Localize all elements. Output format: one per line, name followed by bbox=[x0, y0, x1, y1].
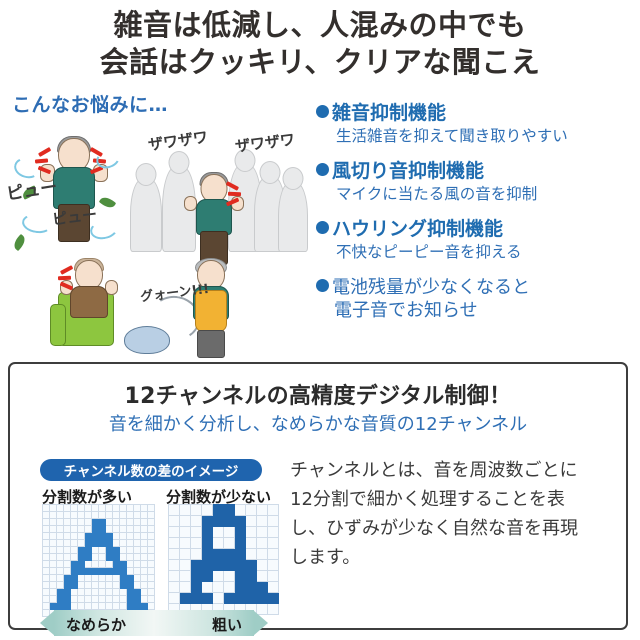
pixel-cell bbox=[50, 505, 57, 512]
pixel-cell bbox=[191, 527, 202, 538]
pixel-cell bbox=[148, 526, 155, 533]
pixel-cell bbox=[120, 519, 127, 526]
pixel-cell bbox=[235, 527, 246, 538]
feature-title: 電池残量が少なくなると bbox=[316, 276, 640, 299]
pixel-cell bbox=[43, 554, 50, 561]
pixel-cell bbox=[85, 512, 92, 519]
pixel-cell bbox=[127, 603, 134, 610]
pixel-cell bbox=[169, 505, 180, 516]
pixel-cell bbox=[127, 547, 134, 554]
pixel-cell bbox=[134, 533, 141, 540]
body-line-2: 12分割で細かく処理することを表 bbox=[290, 485, 620, 514]
pixel-cell bbox=[43, 561, 50, 568]
pixel-grid-row bbox=[43, 582, 155, 589]
pixel-cell bbox=[78, 582, 85, 589]
pixel-cell bbox=[99, 540, 106, 547]
pixel-cell bbox=[78, 589, 85, 596]
pixel-cell bbox=[257, 560, 268, 571]
pixel-cell bbox=[213, 538, 224, 549]
pixel-cell bbox=[106, 519, 113, 526]
feature-title: 風切り音抑制機能 bbox=[316, 160, 640, 183]
pixel-cell bbox=[57, 568, 64, 575]
pixel-cell bbox=[85, 575, 92, 582]
pixel-cell bbox=[92, 589, 99, 596]
feature-subtitle: マイクに当たる風の音を抑制 bbox=[316, 184, 640, 205]
pixel-cell bbox=[257, 516, 268, 527]
pixel-cell bbox=[224, 571, 235, 582]
pixel-cell bbox=[148, 512, 155, 519]
pixel-cell bbox=[141, 596, 148, 603]
pixel-grid-row bbox=[43, 519, 155, 526]
pixel-cell bbox=[99, 512, 106, 519]
feature-title-text: 風切り音抑制機能 bbox=[332, 160, 484, 182]
pixel-cell bbox=[106, 554, 113, 561]
pixel-cell bbox=[180, 549, 191, 560]
pixel-cell bbox=[71, 512, 78, 519]
pixel-cell bbox=[43, 603, 50, 610]
pixel-cell bbox=[257, 505, 268, 516]
pixel-cell bbox=[224, 538, 235, 549]
pixel-cell bbox=[224, 593, 235, 604]
pixel-grid-row bbox=[169, 582, 279, 593]
pixel-cell bbox=[92, 554, 99, 561]
pixel-cell bbox=[134, 526, 141, 533]
pixel-cell bbox=[113, 568, 120, 575]
smoothness-arrow: なめらか 粗い bbox=[40, 610, 268, 636]
pixel-cell bbox=[85, 519, 92, 526]
bullet-icon bbox=[316, 279, 329, 292]
pixel-cell bbox=[213, 593, 224, 604]
pixel-cell bbox=[99, 575, 106, 582]
pixel-cell bbox=[71, 519, 78, 526]
pixel-cell bbox=[57, 589, 64, 596]
pixel-cell bbox=[64, 526, 71, 533]
pixel-cell bbox=[78, 512, 85, 519]
pixel-cell bbox=[57, 561, 64, 568]
pixel-cell bbox=[57, 519, 64, 526]
pixel-cell bbox=[246, 516, 257, 527]
pixel-grid-row bbox=[169, 505, 279, 516]
pixel-cell bbox=[78, 568, 85, 575]
pixel-grid-row bbox=[43, 575, 155, 582]
pixel-cell bbox=[43, 519, 50, 526]
pixel-cell bbox=[78, 575, 85, 582]
pixel-cell bbox=[92, 540, 99, 547]
pixel-cell bbox=[50, 582, 57, 589]
pixel-cell bbox=[78, 505, 85, 512]
pixel-cell bbox=[92, 512, 99, 519]
pixel-cell bbox=[50, 589, 57, 596]
pixel-grid-row bbox=[43, 568, 155, 575]
pixel-cell bbox=[148, 547, 155, 554]
pixel-cell bbox=[127, 596, 134, 603]
pixel-cell bbox=[148, 505, 155, 512]
pixel-cell bbox=[71, 582, 78, 589]
pixel-cell bbox=[113, 533, 120, 540]
pixel-cell bbox=[169, 582, 180, 593]
pixel-cell bbox=[106, 596, 113, 603]
pixel-cell bbox=[92, 596, 99, 603]
pixel-cell bbox=[202, 571, 213, 582]
pixel-cell bbox=[120, 596, 127, 603]
pixel-cell bbox=[99, 526, 106, 533]
pixel-cell bbox=[224, 527, 235, 538]
pixel-grid-row bbox=[169, 516, 279, 527]
pixel-cell bbox=[120, 568, 127, 575]
pixel-cell bbox=[43, 582, 50, 589]
body-line-1: チャンネルとは、音を周波数ごとに bbox=[290, 456, 620, 485]
pixel-cell bbox=[43, 526, 50, 533]
feature-item: 風切り音抑制機能 マイクに当たる風の音を抑制 bbox=[316, 160, 640, 205]
pixel-cell bbox=[191, 538, 202, 549]
pixel-cell bbox=[113, 561, 120, 568]
torso-shape bbox=[53, 167, 95, 209]
pixel-cell bbox=[134, 582, 141, 589]
pixel-grid-row bbox=[43, 547, 155, 554]
pixel-cell bbox=[85, 603, 92, 610]
pixel-cell bbox=[106, 603, 113, 610]
pixel-cell bbox=[64, 596, 71, 603]
pixel-cell bbox=[224, 582, 235, 593]
feature-title-text: 雑音抑制機能 bbox=[332, 102, 446, 124]
pixel-cell bbox=[202, 560, 213, 571]
pixel-cell bbox=[85, 540, 92, 547]
pixel-cell bbox=[113, 540, 120, 547]
pixel-cell bbox=[64, 505, 71, 512]
pixel-grid-row bbox=[43, 533, 155, 540]
pixel-cell bbox=[43, 568, 50, 575]
pixel-cell bbox=[268, 593, 279, 604]
pixel-cell bbox=[64, 561, 71, 568]
pixel-cell bbox=[268, 538, 279, 549]
pixel-cell bbox=[213, 571, 224, 582]
pixel-grid-row bbox=[43, 540, 155, 547]
pixel-cell bbox=[141, 533, 148, 540]
pixel-cell bbox=[213, 582, 224, 593]
headline-line-2: 会話はクッキリ、クリアな聞こえ bbox=[0, 45, 640, 82]
pixel-cell bbox=[99, 589, 106, 596]
pixel-cell bbox=[50, 512, 57, 519]
pixel-grid-row bbox=[169, 538, 279, 549]
pixel-cell bbox=[85, 547, 92, 554]
pixel-cell bbox=[85, 589, 92, 596]
pixel-cell bbox=[71, 526, 78, 533]
pixel-cell bbox=[113, 582, 120, 589]
pixel-cell bbox=[246, 538, 257, 549]
pixel-cell bbox=[213, 560, 224, 571]
pixel-cell bbox=[120, 582, 127, 589]
pixel-cell bbox=[78, 533, 85, 540]
pixel-cell bbox=[57, 505, 64, 512]
pixel-grid-fine bbox=[42, 504, 155, 617]
pixel-cell bbox=[180, 505, 191, 516]
pixel-cell bbox=[120, 603, 127, 610]
pixel-cell bbox=[191, 593, 202, 604]
pixel-cell bbox=[180, 571, 191, 582]
pixel-cell bbox=[113, 603, 120, 610]
pixel-cell bbox=[134, 575, 141, 582]
pixel-cell bbox=[213, 505, 224, 516]
pixel-cell bbox=[92, 519, 99, 526]
pixel-cell bbox=[148, 540, 155, 547]
pixel-cell bbox=[64, 540, 71, 547]
pixel-cell bbox=[43, 547, 50, 554]
crowd-man-figure bbox=[190, 174, 238, 266]
pixel-cell bbox=[141, 589, 148, 596]
pixel-grid-row bbox=[43, 526, 155, 533]
pixel-cell bbox=[50, 547, 57, 554]
pixel-cell bbox=[180, 527, 191, 538]
pixel-cell bbox=[235, 549, 246, 560]
pixel-cell bbox=[257, 593, 268, 604]
pixel-cell bbox=[78, 561, 85, 568]
pixel-cell bbox=[191, 505, 202, 516]
feature-subtitle: 不快なピーピー音を抑える bbox=[316, 242, 640, 263]
pixel-cell bbox=[169, 549, 180, 560]
pixel-cell bbox=[127, 568, 134, 575]
pixel-cell bbox=[64, 589, 71, 596]
pixel-cell bbox=[99, 533, 106, 540]
pixel-cell bbox=[127, 589, 134, 596]
pixel-cell bbox=[141, 582, 148, 589]
pixel-cell bbox=[202, 549, 213, 560]
pixel-cell bbox=[141, 519, 148, 526]
pixel-cell bbox=[141, 575, 148, 582]
pixel-cell bbox=[99, 582, 106, 589]
pixel-cell bbox=[202, 505, 213, 516]
pixel-cell bbox=[268, 549, 279, 560]
pixel-cell bbox=[85, 561, 92, 568]
pixel-cell bbox=[71, 589, 78, 596]
pixel-cell bbox=[191, 549, 202, 560]
pixel-cell bbox=[120, 505, 127, 512]
pixel-cell bbox=[141, 603, 148, 610]
pixel-cell bbox=[180, 560, 191, 571]
pixel-cell bbox=[148, 533, 155, 540]
pixel-cell bbox=[257, 582, 268, 593]
pixel-cell bbox=[71, 596, 78, 603]
pixel-cell bbox=[106, 526, 113, 533]
pixel-cell bbox=[148, 568, 155, 575]
pixel-cell bbox=[235, 505, 246, 516]
pixel-cell bbox=[127, 512, 134, 519]
pixel-cell bbox=[235, 560, 246, 571]
arrow-label-left: なめらか bbox=[66, 614, 126, 635]
legs-shape bbox=[197, 330, 225, 358]
pixel-cell bbox=[191, 516, 202, 527]
pixel-cell bbox=[141, 540, 148, 547]
pixel-cell bbox=[127, 540, 134, 547]
problem-illustration: こんなお悩みに… ピュー ピュー bbox=[0, 88, 312, 360]
page-headline: 雑音は低減し、人混みの中でも 会話はクッキリ、クリアな聞こえ bbox=[0, 8, 640, 82]
pixel-cell bbox=[106, 533, 113, 540]
pixel-cell bbox=[71, 533, 78, 540]
pixel-cell bbox=[213, 549, 224, 560]
pixel-cell bbox=[71, 540, 78, 547]
pixel-cell bbox=[71, 554, 78, 561]
pixel-cell bbox=[106, 547, 113, 554]
pixel-cell bbox=[246, 571, 257, 582]
pixel-cell bbox=[43, 575, 50, 582]
pixel-cell bbox=[127, 533, 134, 540]
pixel-cell bbox=[85, 554, 92, 561]
body-line-3: し、ひずみが少なく自然な音を再現 bbox=[290, 514, 620, 543]
pixel-grid-row bbox=[43, 561, 155, 568]
pixel-cell bbox=[213, 527, 224, 538]
pixel-cell bbox=[148, 603, 155, 610]
channel-panel: 12チャンネルの高精度デジタル制御！ 音を細かく分析し、なめらかな音質の12チャ… bbox=[8, 362, 628, 630]
pixel-cell bbox=[180, 593, 191, 604]
headline-line-1: 雑音は低減し、人混みの中でも bbox=[0, 8, 640, 45]
pixel-cell bbox=[92, 575, 99, 582]
silhouette-head bbox=[169, 151, 190, 174]
silhouette-head bbox=[283, 167, 304, 190]
pixel-cell bbox=[148, 582, 155, 589]
pixel-cell bbox=[169, 527, 180, 538]
pixel-cell bbox=[169, 516, 180, 527]
pixel-cell bbox=[148, 596, 155, 603]
pixel-cell bbox=[191, 582, 202, 593]
pixel-cell bbox=[71, 561, 78, 568]
crowd-silhouette bbox=[278, 182, 308, 252]
pixel-cell bbox=[50, 533, 57, 540]
pixel-cell bbox=[113, 554, 120, 561]
infographic-page: 雑音は低減し、人混みの中でも 会話はクッキリ、クリアな聞こえ こんなお悩みに… bbox=[0, 0, 640, 640]
feature-list: 雑音抑制機能 生活雑音を抑えて聞き取りやすい 風切り音抑制機能 マイクに当たる風… bbox=[316, 102, 640, 336]
pixel-cell bbox=[202, 516, 213, 527]
pixel-cell bbox=[85, 596, 92, 603]
pixel-cell bbox=[141, 568, 148, 575]
pixel-cell bbox=[180, 538, 191, 549]
pixel-cell bbox=[85, 505, 92, 512]
pixel-cell bbox=[120, 526, 127, 533]
pixel-cell bbox=[113, 547, 120, 554]
pixel-cell bbox=[57, 575, 64, 582]
pixel-cell bbox=[92, 526, 99, 533]
arrow-tip-left-icon bbox=[40, 610, 55, 636]
pixel-cell bbox=[113, 596, 120, 603]
pixel-cell bbox=[57, 547, 64, 554]
pixel-cell bbox=[78, 554, 85, 561]
pixel-cell bbox=[268, 571, 279, 582]
pixel-cell bbox=[148, 589, 155, 596]
arrow-tip-right-icon bbox=[253, 610, 268, 636]
pixel-cell bbox=[268, 582, 279, 593]
pixel-cell bbox=[64, 512, 71, 519]
pixel-cell bbox=[99, 561, 106, 568]
leaf-icon bbox=[11, 234, 28, 251]
pixel-cell bbox=[106, 512, 113, 519]
pixel-cell bbox=[235, 516, 246, 527]
pixel-cell bbox=[78, 603, 85, 610]
feature-subtitle: 電子音でお知らせ bbox=[316, 299, 640, 323]
pixel-cell bbox=[246, 549, 257, 560]
pixel-cell bbox=[235, 571, 246, 582]
pixel-cell bbox=[141, 561, 148, 568]
pixel-grid-row bbox=[169, 527, 279, 538]
pixel-cell bbox=[78, 540, 85, 547]
armchair-arm bbox=[50, 304, 66, 346]
pixel-cell bbox=[134, 589, 141, 596]
pixel-grid-row bbox=[169, 571, 279, 582]
pixel-cell bbox=[78, 526, 85, 533]
feature-item: 電池残量が少なくなると 電子音でお知らせ bbox=[316, 276, 640, 323]
pixel-cell bbox=[78, 519, 85, 526]
pixel-cell bbox=[268, 516, 279, 527]
pixel-grid-row bbox=[43, 603, 155, 610]
pixel-cell bbox=[268, 604, 279, 615]
pixel-cell bbox=[64, 519, 71, 526]
pixel-cell bbox=[246, 560, 257, 571]
pixel-cell bbox=[246, 527, 257, 538]
pixel-cell bbox=[268, 560, 279, 571]
pixel-cell bbox=[134, 596, 141, 603]
pixel-cell bbox=[127, 519, 134, 526]
panel-title: 12チャンネルの高精度デジタル制御！ bbox=[10, 378, 626, 410]
feature-title-text: ハウリング抑制機能 bbox=[332, 218, 503, 240]
pixel-cell bbox=[43, 589, 50, 596]
feature-subtitle: 生活雑音を抑えて聞き取りやすい bbox=[316, 126, 640, 147]
pixel-cell bbox=[43, 505, 50, 512]
pixel-cell bbox=[50, 568, 57, 575]
arrow-label-right: 粗い bbox=[212, 614, 242, 635]
pixel-cell bbox=[235, 593, 246, 604]
silhouette-head bbox=[260, 161, 281, 184]
pixel-cell bbox=[92, 561, 99, 568]
bullet-icon bbox=[316, 105, 329, 118]
pixel-cell bbox=[127, 582, 134, 589]
pixel-cell bbox=[257, 571, 268, 582]
pixel-cell bbox=[191, 560, 202, 571]
pixel-cell bbox=[257, 527, 268, 538]
bullet-icon bbox=[316, 163, 329, 176]
pixel-cell bbox=[64, 554, 71, 561]
pixel-cell bbox=[57, 533, 64, 540]
pixel-cell bbox=[134, 568, 141, 575]
pixel-cell bbox=[127, 554, 134, 561]
pixel-cell bbox=[85, 533, 92, 540]
pixel-cell bbox=[134, 505, 141, 512]
pixel-cell bbox=[71, 603, 78, 610]
pixel-cell bbox=[134, 519, 141, 526]
pixel-cell bbox=[127, 505, 134, 512]
pixel-cell bbox=[134, 547, 141, 554]
pixel-cell bbox=[141, 547, 148, 554]
pixel-cell bbox=[57, 540, 64, 547]
pixel-cell bbox=[141, 512, 148, 519]
pixel-cell bbox=[43, 596, 50, 603]
pixel-cell bbox=[141, 526, 148, 533]
pixel-cell bbox=[202, 582, 213, 593]
pixel-cell bbox=[71, 568, 78, 575]
pixel-cell bbox=[106, 505, 113, 512]
pixel-cell bbox=[180, 516, 191, 527]
pixel-grid-row bbox=[43, 505, 155, 512]
pixel-cell bbox=[92, 533, 99, 540]
pixel-grid-row bbox=[43, 596, 155, 603]
pixel-cell bbox=[106, 540, 113, 547]
pixel-cell bbox=[50, 540, 57, 547]
pixel-cell bbox=[92, 547, 99, 554]
pixel-cell bbox=[50, 519, 57, 526]
pixel-cell bbox=[257, 549, 268, 560]
pixel-cell bbox=[113, 519, 120, 526]
pixel-cell bbox=[43, 540, 50, 547]
pixel-cell bbox=[268, 527, 279, 538]
pixel-cell bbox=[57, 582, 64, 589]
pixel-cell bbox=[148, 575, 155, 582]
pixel-cell bbox=[120, 589, 127, 596]
